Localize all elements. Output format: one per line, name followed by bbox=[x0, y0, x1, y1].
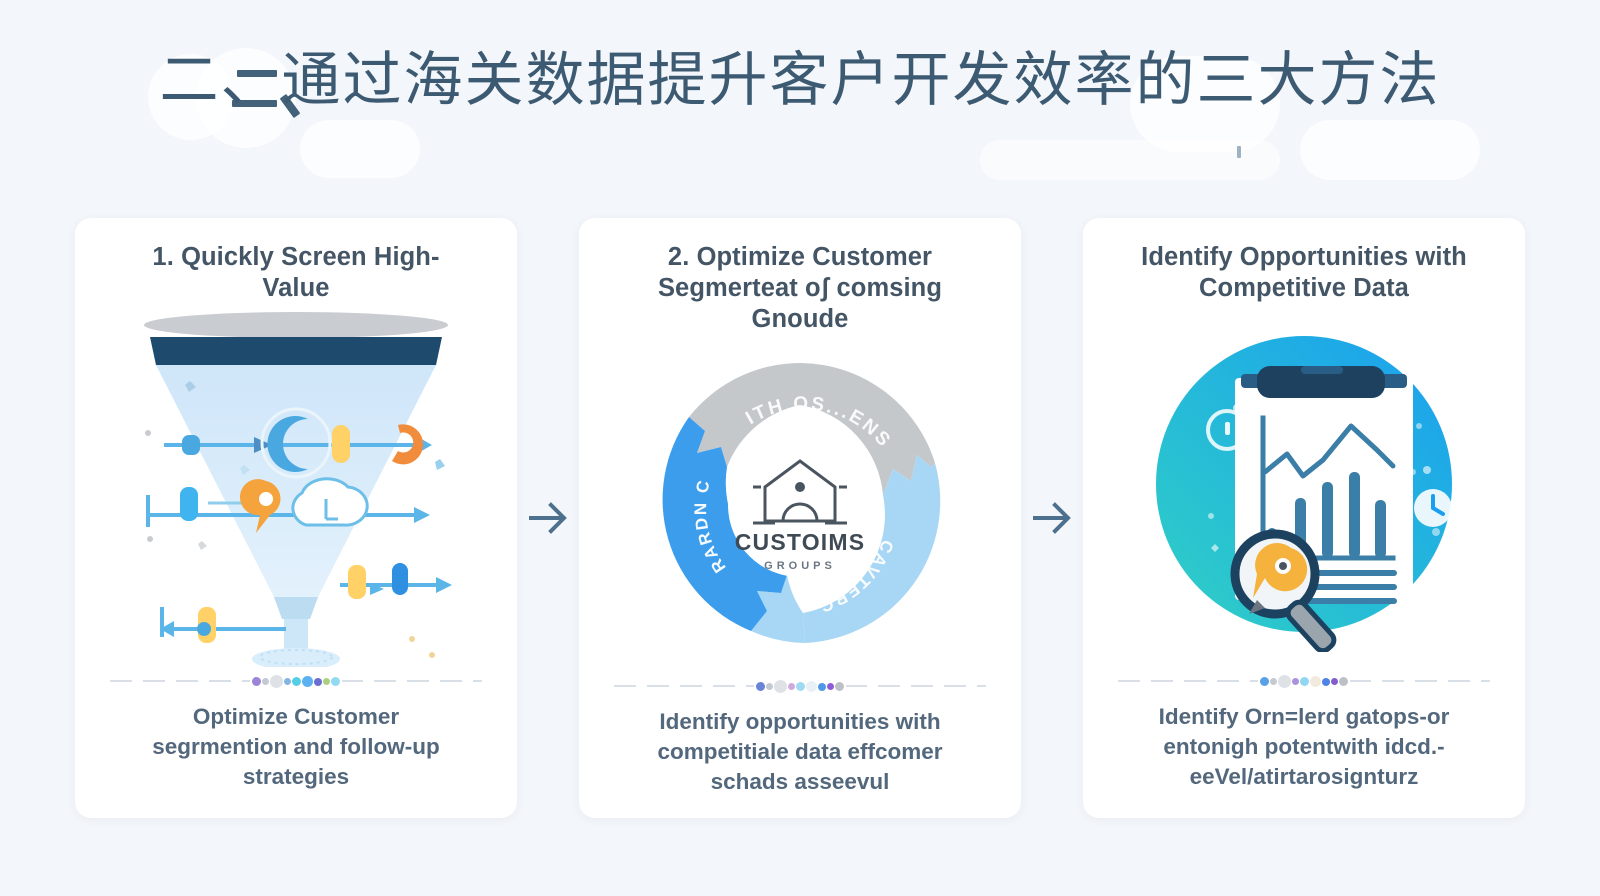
divider-dot bbox=[1339, 677, 1348, 686]
capsule-blue bbox=[392, 563, 408, 595]
donut-cycle-illustration: ITH OS...ENS CAVTEBCITR RARDN CDE bbox=[635, 335, 965, 675]
decor-dot bbox=[1432, 528, 1440, 536]
watermark-blob bbox=[980, 140, 1280, 180]
flow-node bbox=[197, 622, 211, 636]
divider-dot bbox=[766, 683, 773, 690]
divider-dot-cluster bbox=[250, 675, 342, 688]
funnel-cone bbox=[156, 365, 436, 597]
divider-dot bbox=[331, 677, 340, 686]
pencil-dot bbox=[1279, 562, 1287, 570]
card-title: 1. Quickly Screen High-Value bbox=[120, 242, 472, 304]
page-title: 二、通过海关数据提升客户开发效率的三大方法 bbox=[0, 46, 1600, 114]
divider-dot bbox=[1310, 676, 1321, 687]
logo-dot bbox=[795, 482, 805, 492]
divider-dot bbox=[270, 675, 283, 688]
card-illustration: ITH OS...ENS CAVTEBCITR RARDN CDE bbox=[579, 335, 1021, 679]
divider-dot bbox=[788, 683, 795, 690]
divider-dot bbox=[1270, 678, 1277, 685]
pin-hole bbox=[259, 492, 273, 506]
divider-dot bbox=[1300, 677, 1309, 686]
flow-node bbox=[182, 435, 200, 455]
arrow-right-icon bbox=[525, 495, 571, 541]
card-connector bbox=[1021, 218, 1083, 818]
sparkle-icon bbox=[198, 541, 207, 550]
flow-arrowhead bbox=[414, 507, 430, 523]
logo-subwordmark: GROUPS bbox=[764, 560, 836, 572]
funnel-neck bbox=[274, 597, 318, 619]
decor-dot bbox=[147, 536, 153, 542]
divider-dot bbox=[818, 683, 826, 691]
watermark-blob bbox=[1300, 120, 1480, 180]
decor-dot bbox=[429, 652, 435, 658]
divider-dot bbox=[302, 676, 313, 687]
decor-dot bbox=[1423, 466, 1431, 474]
card-divider bbox=[614, 679, 986, 693]
card-title: 2. Optimize Customer Segmerteat oʃ comsi… bbox=[624, 242, 976, 335]
chart-bar bbox=[1349, 472, 1360, 558]
divider-dot bbox=[827, 683, 834, 690]
divider-dot bbox=[806, 681, 817, 692]
card-caption: Optimize Customer segrmention and follow… bbox=[126, 702, 466, 792]
watermark-blob bbox=[300, 120, 420, 178]
divider-dot bbox=[1260, 677, 1269, 686]
card-quickly-screen-high-value[interactable]: 1. Quickly Screen High-Value bbox=[75, 218, 517, 818]
divider-dot bbox=[756, 682, 765, 691]
title-stray-dot bbox=[1237, 146, 1241, 158]
flow-endcap bbox=[146, 495, 150, 527]
decor-dot bbox=[409, 636, 415, 642]
divider-dot bbox=[796, 682, 805, 691]
divider-dot-cluster bbox=[754, 680, 846, 693]
clock-badge-icon bbox=[1414, 489, 1452, 527]
card-title: Identify Opportunities with Competitive … bbox=[1128, 242, 1480, 304]
cards-row: 1. Quickly Screen High-Value bbox=[0, 218, 1600, 818]
divider-dot bbox=[1278, 675, 1291, 688]
card-illustration bbox=[75, 304, 517, 674]
capsule-yellow bbox=[332, 425, 350, 463]
flow-arrowhead bbox=[436, 577, 452, 593]
card-caption: Identify Orn=lerd gatops-or entonigh pot… bbox=[1134, 702, 1474, 792]
funnel-lid bbox=[144, 312, 448, 338]
chart-bar bbox=[1322, 482, 1333, 558]
divider-dot bbox=[323, 678, 330, 685]
card-divider bbox=[110, 674, 482, 688]
funnel-rim-band bbox=[150, 337, 442, 365]
decor-dot bbox=[1416, 423, 1422, 429]
divider-dot bbox=[284, 678, 291, 685]
divider-dot-cluster bbox=[1258, 675, 1350, 688]
decor-tick bbox=[1225, 422, 1230, 435]
card-illustration bbox=[1083, 304, 1525, 674]
clipboard-clip-top bbox=[1301, 366, 1343, 374]
clipboard-analysis-illustration bbox=[1145, 322, 1463, 652]
decor-dot bbox=[1208, 513, 1214, 519]
divider-dot bbox=[1292, 678, 1299, 685]
capsule-yellow bbox=[348, 565, 366, 599]
divider-dot bbox=[292, 677, 301, 686]
divider-dot bbox=[1322, 678, 1330, 686]
arrow-right-icon bbox=[1029, 495, 1075, 541]
divider-dot bbox=[835, 682, 844, 691]
sparkle-icon bbox=[435, 459, 445, 470]
flow-endcap bbox=[160, 607, 164, 637]
card-divider bbox=[1118, 674, 1490, 688]
divider-dot bbox=[314, 678, 322, 686]
capsule-blue bbox=[180, 487, 198, 521]
decor-dot bbox=[145, 430, 151, 436]
funnel-illustration bbox=[126, 307, 466, 667]
card-identify-opportunities[interactable]: Identify Opportunities with Competitive … bbox=[1083, 218, 1525, 818]
divider-dot bbox=[262, 678, 269, 685]
chart-bar bbox=[1375, 500, 1386, 558]
card-connector bbox=[517, 218, 579, 818]
card-optimize-customer-segmentation[interactable]: 2. Optimize Customer Segmerteat oʃ comsi… bbox=[579, 218, 1021, 818]
divider-dot bbox=[252, 677, 261, 686]
divider-dot bbox=[1331, 678, 1338, 685]
card-caption: Identify opportunities with competitiale… bbox=[630, 707, 970, 797]
divider-dot bbox=[774, 680, 787, 693]
logo-wordmark: CUSTOIMS bbox=[735, 529, 866, 555]
